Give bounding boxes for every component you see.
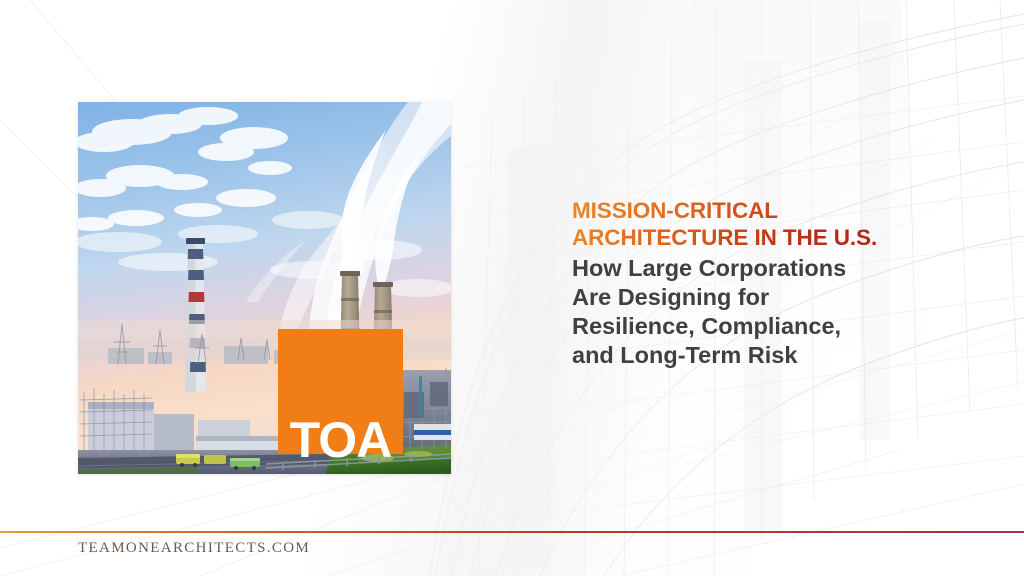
subtitle-line-1: How Large Corporations — [572, 254, 944, 283]
subtitle-line-4: and Long-Term Risk — [572, 341, 944, 370]
headline-line-1: MISSION-CRITICAL — [572, 197, 944, 224]
page-title: How Large Corporations Are Designing for… — [572, 254, 944, 370]
toa-logo-text: TOA — [278, 415, 403, 465]
slide-text-block: MISSION-CRITICAL ARCHITECTURE IN THE U.S… — [572, 197, 944, 370]
footer-divider — [0, 531, 1024, 533]
toa-logo: TOA — [278, 329, 403, 454]
industrial-power-plant-photo: TOA — [78, 102, 451, 474]
headline-line-2: ARCHITECTURE IN THE U.S. — [572, 224, 944, 251]
subtitle-line-2: Are Designing for — [572, 283, 944, 312]
presentation-slide: TOA MISSION-CRITICAL ARCHITECTURE IN THE… — [0, 0, 1024, 576]
footer-website-url: TEAMONEARCHITECTS.COM — [78, 540, 310, 557]
subtitle-line-3: Resilience, Compliance, — [572, 312, 944, 341]
